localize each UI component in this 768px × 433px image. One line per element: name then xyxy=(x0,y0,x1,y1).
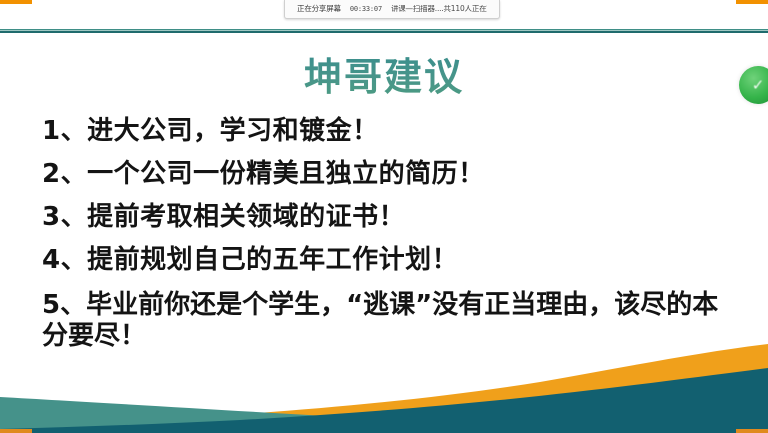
logo-check-icon: ✓ xyxy=(752,78,765,93)
swoosh-dark-teal-main xyxy=(0,368,768,433)
screen-share-notification-bar[interactable]: 正在分享屏幕 00:33:07 讲课—扫描器....共110人正在观看 xyxy=(284,0,500,19)
list-item-number: 1、 xyxy=(42,116,87,146)
advice-list: 1、进大公司，学习和镀金！ 2、一个公司一份精美且独立的简历！ 3、提前考取相关… xyxy=(42,118,728,368)
share-status-label: 正在分享屏幕 xyxy=(297,5,341,13)
share-viewers-label: 讲课—扫描器....共110人正在观看 xyxy=(391,5,487,13)
list-item-number: 4、 xyxy=(42,245,87,275)
list-item-text: 进大公司，学习和镀金！ xyxy=(87,116,379,146)
list-item-number: 2、 xyxy=(42,159,87,189)
presentation-slide: 正在分享屏幕 00:33:07 讲课—扫描器....共110人正在观看 ✓ 坤哥… xyxy=(0,0,768,433)
list-item: 2、一个公司一份精美且独立的简历！ xyxy=(42,161,728,187)
header-divider-rule xyxy=(0,29,768,33)
top-right-orange-accent xyxy=(736,0,768,4)
list-item-text: 毕业前你还是个学生，“逃课”没有正当理由，该尽的本分要尽！ xyxy=(42,290,718,351)
top-left-orange-accent xyxy=(0,0,32,4)
bottom-right-orange-accent xyxy=(736,429,768,433)
bottom-left-orange-accent xyxy=(0,429,32,433)
list-item: 5、毕业前你还是个学生，“逃课”没有正当理由，该尽的本分要尽！ xyxy=(42,290,728,351)
list-item: 3、提前考取相关领域的证书！ xyxy=(42,204,728,230)
list-item-text: 提前考取相关领域的证书！ xyxy=(87,202,405,232)
swoosh-teal-light xyxy=(0,397,768,433)
slide-title: 坤哥建议 xyxy=(0,57,768,99)
list-item-text: 提前规划自己的五年工作计划！ xyxy=(87,245,458,275)
list-item-text: 一个公司一份精美且独立的简历！ xyxy=(87,159,485,189)
list-item: 1、进大公司，学习和镀金！ xyxy=(42,118,728,144)
list-item-number: 5、 xyxy=(42,290,86,320)
share-elapsed-time: 00:33:07 xyxy=(350,6,382,13)
list-item: 4、提前规划自己的五年工作计划！ xyxy=(42,247,728,273)
list-item-number: 3、 xyxy=(42,202,87,232)
